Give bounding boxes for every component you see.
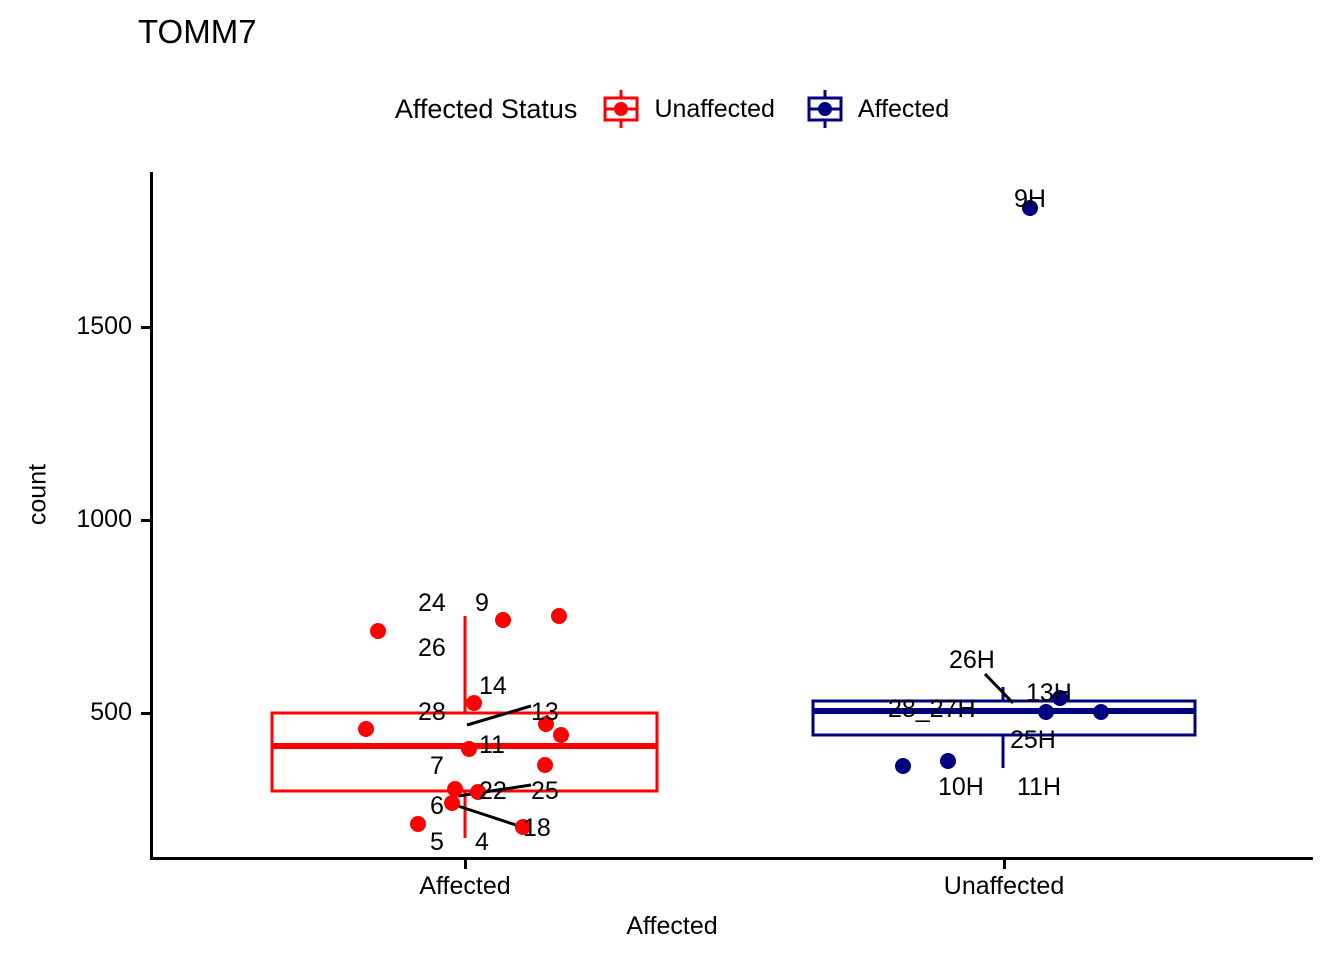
label-13: 13 <box>531 698 559 726</box>
label-26: 26 <box>418 634 446 662</box>
label-4: 4 <box>475 828 489 856</box>
label-25H: 25H <box>1010 726 1056 754</box>
label-22: 22 <box>479 777 507 805</box>
label-13H: 13H <box>1026 679 1072 707</box>
label-28: 28 <box>418 698 446 726</box>
label-9: 9 <box>475 589 489 617</box>
label-7: 7 <box>430 752 444 780</box>
point-labels-layer: 249261428131172225618549H26H28_27H13H25H… <box>0 0 1344 960</box>
label-11: 11 <box>479 731 505 759</box>
label-14: 14 <box>479 672 507 700</box>
label-6: 6 <box>430 792 444 820</box>
label-26H: 26H <box>949 646 995 674</box>
label-25: 25 <box>531 777 559 805</box>
label-9H: 9H <box>1014 185 1046 213</box>
label-28_27H: 28_27H <box>888 695 976 723</box>
label-24: 24 <box>418 589 446 617</box>
label-10H: 10H <box>938 773 984 801</box>
label-11H: 11H <box>1017 773 1061 801</box>
label-5: 5 <box>430 828 444 856</box>
label-18: 18 <box>523 814 551 842</box>
boxplot-figure: TOMM7 Affected Status Unaffected <box>0 0 1344 960</box>
